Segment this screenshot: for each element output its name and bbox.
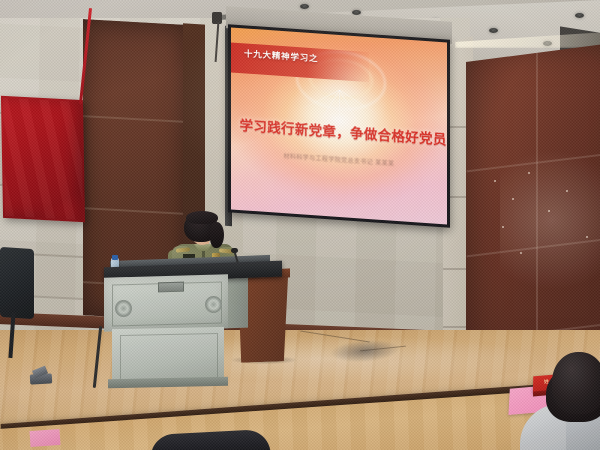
slide-subtitle-text: 材料科学与工程学院党总支书记 某某某 (244, 148, 434, 170)
right-wall-sheen (500, 150, 600, 290)
water-bottle-cap (112, 255, 118, 260)
downlight-icon (300, 4, 309, 9)
microphone-icon (231, 248, 238, 253)
speaker-grille-icon (115, 300, 132, 317)
presenter-bangs (186, 211, 218, 224)
photo-scene: 十九大精神学习之 学习践行新党章，争做合格好党员 材料科学与工程学院党总支书记 … (0, 0, 600, 450)
downlight-icon (489, 28, 498, 33)
presenter-hair-side (210, 222, 224, 248)
red-banner-folds (3, 98, 83, 220)
console-nameplate (158, 282, 184, 293)
audience-head (552, 352, 600, 414)
projection-screen: 十九大精神学习之 学习践行新党章，争做合格好党员 材料科学与工程学院党总支书记 … (226, 6, 452, 230)
downlight-icon (575, 13, 584, 18)
speaker-grille-icon (205, 296, 222, 313)
chair (0, 247, 34, 319)
pink-paper-left (29, 429, 60, 447)
slide-surface: 十九大精神学习之 学习践行新党章，争做合格好党员 材料科学与工程学院党总支书记 … (231, 27, 447, 224)
console-lower-door (120, 333, 218, 381)
